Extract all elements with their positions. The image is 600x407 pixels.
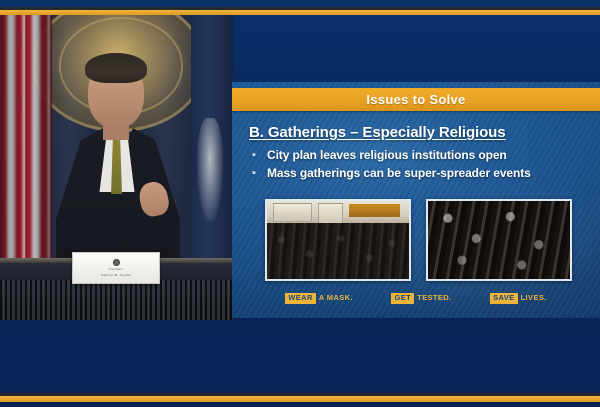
broadcast-frame: Governor Andrew M. Cuomo Issues to Solve…	[0, 0, 600, 407]
speaker-hair	[85, 53, 147, 83]
slogan-remainder: LIVES.	[521, 294, 547, 302]
photo-crowd	[428, 201, 570, 279]
podium-front-texture	[0, 280, 233, 320]
photo-building	[273, 203, 312, 222]
nameplate-seal-icon	[113, 259, 120, 266]
stripe-gold-band	[0, 10, 600, 15]
podium-desk: Governor Andrew M. Cuomo	[0, 258, 233, 320]
bullet-text: Mass gatherings can be super-spreader ev…	[267, 166, 531, 181]
top-accent-stripe	[0, 7, 600, 15]
camera-feed-panel: Governor Andrew M. Cuomo	[0, 14, 233, 320]
presentation-slide: Issues to Solve B. Gatherings – Especial…	[232, 82, 600, 318]
slogan-remainder: TESTED.	[417, 294, 451, 302]
list-item: ▪ City plan leaves religious institution…	[252, 148, 592, 163]
bullet-marker-icon: ▪	[252, 148, 258, 163]
slogan-remainder: A MASK.	[319, 294, 353, 302]
speaker-figure	[56, 58, 180, 278]
slogan-save-lives: SAVE LIVES.	[490, 293, 547, 304]
slide-title-bar: Issues to Solve	[232, 88, 600, 111]
nameplate-name: Andrew M. Cuomo	[101, 273, 131, 277]
slogan-get-tested: GET TESTED.	[391, 293, 451, 304]
slide-heading: B. Gatherings – Especially Religious	[249, 124, 505, 141]
slide-bullet-list: ▪ City plan leaves religious institution…	[252, 148, 592, 184]
nameplate: Governor Andrew M. Cuomo	[72, 252, 160, 284]
bottom-accent-stripe	[0, 393, 600, 402]
list-item: ▪ Mass gatherings can be super-spreader …	[252, 166, 592, 181]
stripe-gold-band	[0, 396, 600, 402]
slogan-keyword: GET	[391, 293, 414, 304]
slide-photo-indoor-crowd	[426, 199, 572, 281]
slide-title: Issues to Solve	[366, 92, 465, 107]
slide-photo-outdoor-crowd	[265, 199, 411, 281]
nameplate-title: Governor	[109, 267, 124, 271]
bullet-text: City plan leaves religious institutions …	[267, 148, 507, 163]
photo-building	[318, 203, 343, 225]
photo-crowd	[267, 223, 409, 279]
slogan-keyword: SAVE	[490, 293, 517, 304]
slogan-wear-a-mask: WEAR A MASK.	[285, 293, 353, 304]
slogan-keyword: WEAR	[285, 293, 316, 304]
bullet-marker-icon: ▪	[252, 166, 258, 181]
public-health-slogan-strip: WEAR A MASK. GET TESTED. SAVE LIVES.	[232, 287, 600, 309]
photo-banner	[349, 204, 400, 216]
